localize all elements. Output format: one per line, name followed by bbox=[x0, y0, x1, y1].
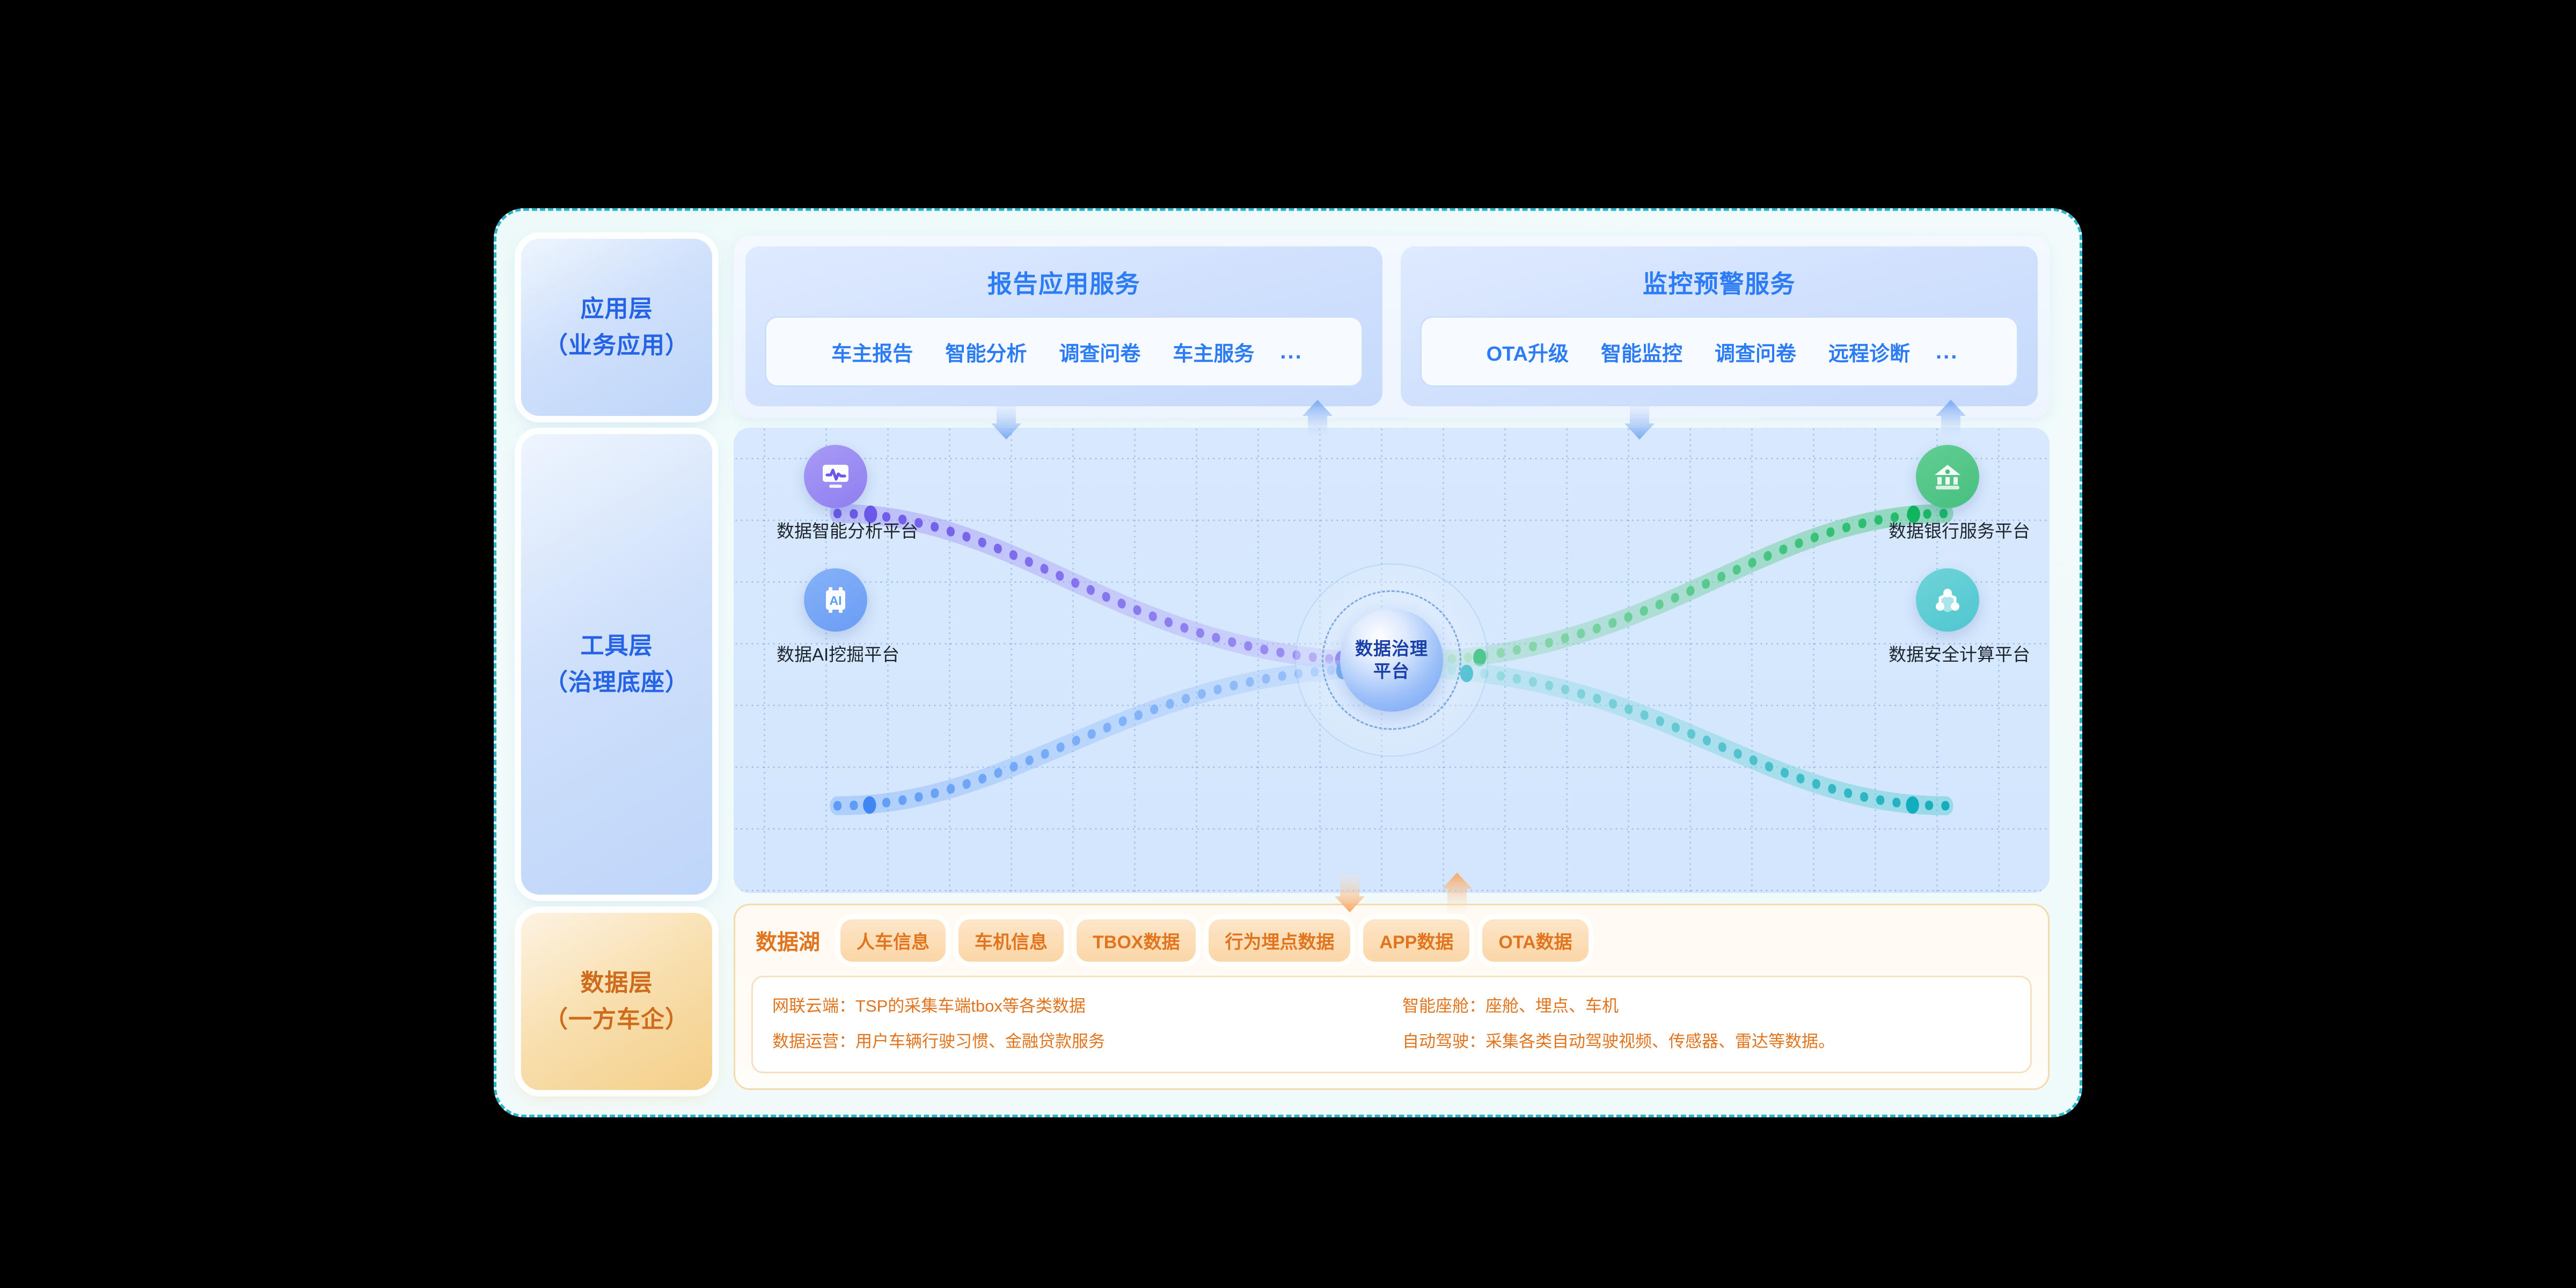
data-description-line: 智能座舱：座舱、埋点、车机 bbox=[1402, 994, 2011, 1018]
tool-layer-panel: 数据治理 平台 数据智能分析平台 bbox=[734, 428, 2050, 893]
app-card-monitor-title: 监控预警服务 bbox=[1420, 265, 2018, 300]
node-label: 数据银行服务平台 bbox=[1889, 517, 2007, 543]
governance-hub[interactable]: 数据治理 平台 bbox=[1295, 563, 1488, 757]
data-description-line: 自动驾驶：采集各类自动驾驶视频、传感器、雷达等数据。 bbox=[1402, 1030, 2011, 1053]
arrow-down-icon bbox=[1624, 400, 1655, 440]
layer-data-line1: 数据层 bbox=[544, 965, 689, 1001]
node-label: 数据安全计算平台 bbox=[1889, 640, 2007, 666]
ai-chip-icon: AI bbox=[804, 568, 867, 632]
app-tag[interactable]: OTA升级 bbox=[1470, 337, 1585, 367]
arrow-up-icon bbox=[1302, 400, 1333, 440]
node-data-security-platform[interactable]: 数据安全计算平台 bbox=[1889, 568, 2007, 666]
arrow-up-icon bbox=[1936, 400, 1966, 440]
data-description-line: 数据运营：用户车辆行驶习惯、金融贷款服务 bbox=[772, 1030, 1381, 1053]
monitor-pulse-icon bbox=[804, 445, 867, 508]
node-data-analysis-platform[interactable]: 数据智能分析平台 bbox=[777, 445, 895, 543]
svg-text:AI: AI bbox=[830, 594, 842, 608]
data-description-box: 网联云端：TSP的采集车端tbox等各类数据 数据运营：用户车辆行驶习惯、金融贷… bbox=[751, 976, 2032, 1073]
app-tag[interactable]: 智能分析 bbox=[929, 337, 1043, 367]
lake-pill[interactable]: OTA数据 bbox=[1482, 919, 1588, 962]
node-data-ai-platform[interactable]: AI 数据AI挖掘平台 bbox=[777, 568, 895, 666]
data-description-line: 网联云端：TSP的采集车端tbox等各类数据 bbox=[772, 994, 1381, 1018]
layer-tool-line2: （治理底座） bbox=[544, 664, 689, 701]
hub-core: 数据治理 平台 bbox=[1340, 609, 1443, 712]
layer-app-line2: （业务应用） bbox=[544, 327, 689, 364]
data-lake-row: 数据湖 人车信息 车机信息 TBOX数据 行为埋点数据 APP数据 OTA数据 bbox=[751, 919, 2032, 962]
layer-chip-tool: 工具层 （治理底座） bbox=[521, 434, 712, 895]
layer-data-line2: （一方车企） bbox=[544, 1001, 689, 1038]
architecture-diagram: 应用层 （业务应用） 工具层 （治理底座） 数据层 （一方车企） 报告应用服务 … bbox=[494, 208, 2082, 1117]
layer-chip-application: 应用层 （业务应用） bbox=[521, 239, 712, 416]
node-label: 数据智能分析平台 bbox=[777, 517, 895, 543]
arrow-up-icon bbox=[1442, 873, 1472, 912]
app-tag-more[interactable]: ... bbox=[1270, 340, 1312, 364]
layer-chip-data: 数据层 （一方车企） bbox=[521, 913, 712, 1090]
app-tag[interactable]: 车主报告 bbox=[815, 337, 929, 367]
app-tag[interactable]: 调查问卷 bbox=[1043, 337, 1157, 367]
app-card-report-tagbar: 车主报告 智能分析 调查问卷 车主服务 ... bbox=[765, 316, 1363, 387]
lake-pill[interactable]: APP数据 bbox=[1363, 919, 1469, 962]
app-tag[interactable]: 智能监控 bbox=[1585, 337, 1699, 367]
node-label: 数据AI挖掘平台 bbox=[777, 640, 895, 666]
hub-line2: 平台 bbox=[1355, 660, 1428, 683]
data-description-column-left: 网联云端：TSP的采集车端tbox等各类数据 数据运营：用户车辆行驶习惯、金融贷… bbox=[772, 994, 1381, 1053]
app-tag[interactable]: 车主服务 bbox=[1157, 337, 1270, 367]
app-tag[interactable]: 远程诊断 bbox=[1812, 337, 1926, 367]
bank-building-icon bbox=[1916, 445, 1979, 508]
node-data-bank-platform[interactable]: 数据银行服务平台 bbox=[1889, 445, 2007, 543]
layer-tool-line1: 工具层 bbox=[544, 628, 689, 664]
data-description-column-right: 智能座舱：座舱、埋点、车机 自动驾驶：采集各类自动驾驶视频、传感器、雷达等数据。 bbox=[1402, 994, 2011, 1053]
app-card-report-title: 报告应用服务 bbox=[765, 265, 1363, 300]
lake-pill[interactable]: TBOX数据 bbox=[1077, 919, 1196, 962]
layer-rail: 应用层 （业务应用） 工具层 （治理底座） 数据层 （一方车企） bbox=[521, 236, 712, 1090]
hub-line1: 数据治理 bbox=[1355, 638, 1428, 661]
layer-stack: 报告应用服务 车主报告 智能分析 调查问卷 车主服务 ... 监控预警服务 OT… bbox=[734, 236, 2050, 1090]
shield-network-icon bbox=[1916, 568, 1979, 632]
arrow-down-icon bbox=[991, 400, 1021, 440]
lake-pill[interactable]: 车机信息 bbox=[958, 919, 1064, 962]
data-layer-panel: 数据湖 人车信息 车机信息 TBOX数据 行为埋点数据 APP数据 OTA数据 … bbox=[734, 904, 2050, 1090]
app-card-monitor-tagbar: OTA升级 智能监控 调查问卷 远程诊断 ... bbox=[1420, 316, 2018, 387]
app-card-monitor: 监控预警服务 OTA升级 智能监控 调查问卷 远程诊断 ... bbox=[1401, 246, 2038, 406]
application-layer-panel: 报告应用服务 车主报告 智能分析 调查问卷 车主服务 ... 监控预警服务 OT… bbox=[734, 236, 2050, 418]
app-tag[interactable]: 调查问卷 bbox=[1699, 337, 1812, 367]
app-card-report: 报告应用服务 车主报告 智能分析 调查问卷 车主服务 ... bbox=[745, 246, 1382, 406]
app-tag-more[interactable]: ... bbox=[1926, 340, 1968, 364]
arrow-down-icon bbox=[1335, 873, 1365, 912]
data-lake-title: 数据湖 bbox=[751, 925, 828, 956]
lake-pill[interactable]: 行为埋点数据 bbox=[1209, 919, 1350, 962]
lake-pill[interactable]: 人车信息 bbox=[840, 919, 946, 962]
layer-app-line1: 应用层 bbox=[544, 291, 689, 327]
